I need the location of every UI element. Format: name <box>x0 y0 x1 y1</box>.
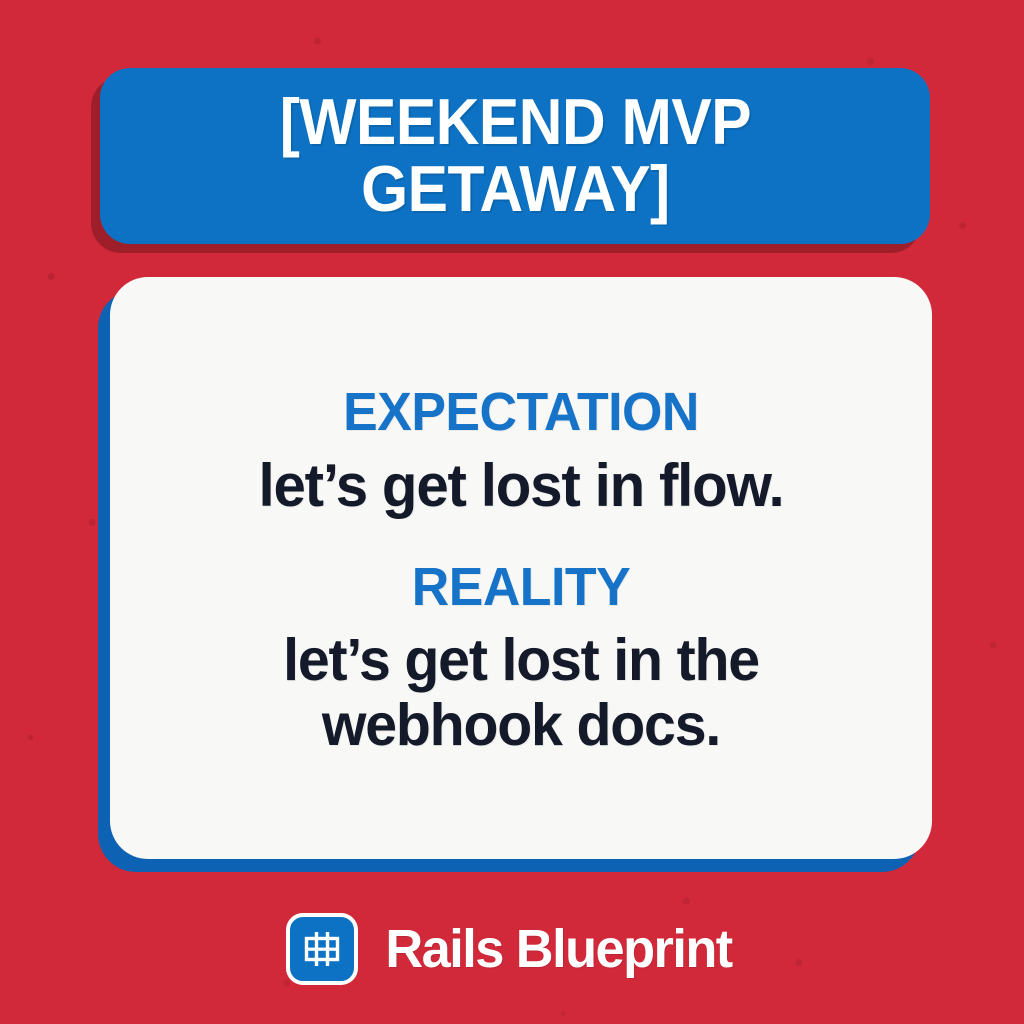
brand-name: Rails Blueprint <box>386 922 732 976</box>
social-poster: [WEEKEND MVP GETAWAY] EXPECTATION let’s … <box>0 0 1024 1024</box>
reality-block: REALITY let’s get lost in the webhook do… <box>150 559 892 757</box>
footer-brand: Rails Blueprint <box>0 903 1024 995</box>
expectation-text: let’s get lost in flow. <box>161 453 881 519</box>
expectation-label: EXPECTATION <box>165 384 877 441</box>
expectation-block: EXPECTATION let’s get lost in flow. <box>150 384 892 519</box>
header-banner: [WEEKEND MVP GETAWAY] <box>100 68 930 244</box>
reality-text: let’s get lost in the webhook docs. <box>161 628 881 758</box>
blueprint-frame-icon <box>286 913 358 985</box>
content-card: EXPECTATION let’s get lost in flow. REAL… <box>110 277 932 859</box>
reality-label: REALITY <box>165 559 877 616</box>
page-title: [WEEKEND MVP GETAWAY] <box>255 89 775 223</box>
